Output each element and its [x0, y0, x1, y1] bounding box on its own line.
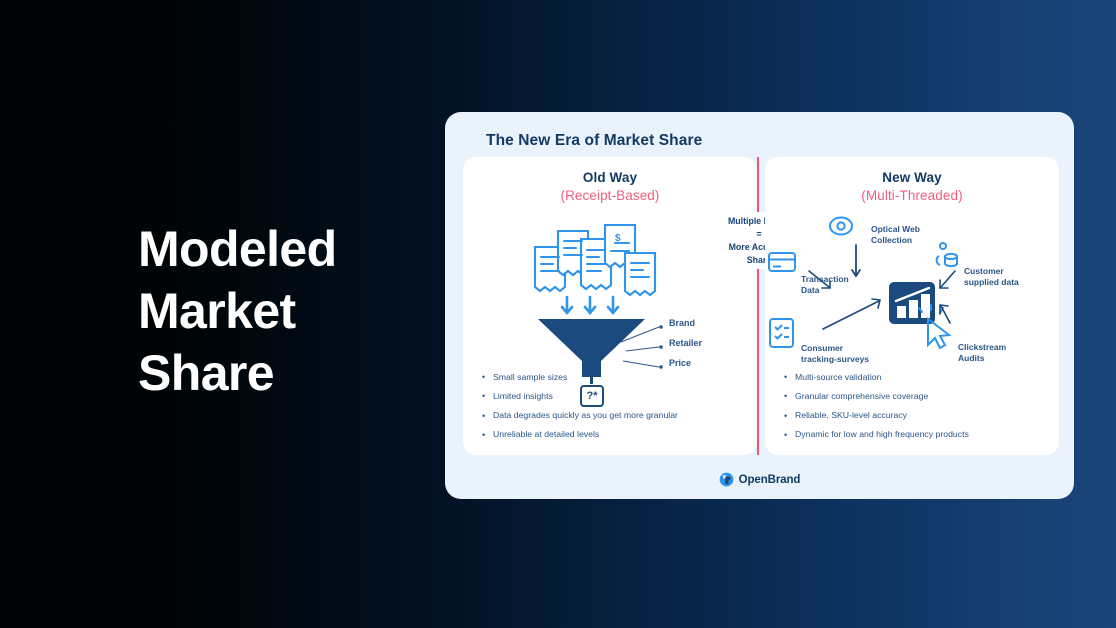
list-item: Data degrades quickly as you get more gr…	[481, 410, 749, 422]
source-label-line-1: Clickstream	[958, 342, 1006, 352]
survey-list-icon	[770, 319, 793, 347]
source-label-line-2: Collection	[871, 235, 912, 245]
panel-new-heading: New Way (Multi-Threaded)	[765, 157, 1059, 203]
brand-footer: OpenBrand	[445, 472, 1074, 487]
source-label-line-1: Optical Web	[871, 224, 920, 234]
new-way-bullet-list: Multi-source validation Granular compreh…	[783, 372, 1051, 441]
eye-icon	[830, 218, 852, 235]
brand-name: OpenBrand	[739, 474, 801, 486]
list-item: Reliable, SKU-level accuracy	[783, 410, 1051, 422]
list-item: Limited insights	[481, 391, 749, 403]
headline-line-3: Share	[138, 342, 438, 404]
market-share-card: The New Era of Market Share Old Way (Rec…	[445, 112, 1074, 499]
headline-line-1: Modeled	[138, 218, 438, 280]
list-item: Multi-source validation	[783, 372, 1051, 384]
svg-text:$: $	[615, 233, 621, 244]
source-label-line-1: Customer	[964, 266, 1004, 276]
page-title: Modeled Market Share	[138, 218, 438, 404]
panel-new-subtitle: (Multi-Threaded)	[765, 188, 1059, 203]
credit-card-icon	[769, 253, 795, 271]
openbrand-logo-icon	[719, 472, 734, 487]
panel-new-title: New Way	[765, 170, 1059, 185]
list-item: Small sample sizes	[481, 372, 749, 384]
panel-old-way: Old Way (Receipt-Based)	[463, 157, 757, 455]
source-label-clickstream-audits: Clickstream Audits	[958, 342, 1006, 364]
source-label-line-1: Consumer	[801, 343, 843, 353]
source-label-optical-web: Optical Web Collection	[871, 224, 920, 246]
source-label-line-2: tracking-surveys	[801, 354, 869, 364]
source-label-customer-supplied: Customer supplied data	[964, 266, 1019, 288]
panel-old-title: Old Way	[463, 170, 757, 185]
source-label-line-2: Data	[801, 285, 819, 295]
panel-divider	[757, 157, 759, 455]
funnel-label-retailer: Retailer	[669, 338, 702, 348]
funnel-label-price: Price	[669, 358, 691, 368]
source-label-line-2: supplied data	[964, 277, 1019, 287]
source-label-transaction-data: Transaction Data	[801, 274, 849, 296]
source-label-line-2: Audits	[958, 353, 984, 363]
list-item: Granular comprehensive coverage	[783, 391, 1051, 403]
customer-data-icon	[937, 243, 957, 266]
old-way-bullet-list: Small sample sizes Limited insights Data…	[481, 372, 749, 441]
list-item: Unreliable at detailed levels	[481, 429, 749, 441]
card-title: The New Era of Market Share	[486, 132, 702, 150]
panel-new-way: New Way (Multi-Threaded)	[765, 157, 1059, 455]
headline-line-2: Market	[138, 280, 438, 342]
panel-old-heading: Old Way (Receipt-Based)	[463, 157, 757, 203]
panel-old-subtitle: (Receipt-Based)	[463, 188, 757, 203]
slide-canvas: Modeled Market Share The New Era of Mark…	[0, 0, 1116, 628]
source-label-line-1: Transaction	[801, 274, 849, 284]
source-label-consumer-surveys: Consumer tracking-surveys	[801, 343, 869, 365]
list-item: Dynamic for low and high frequency produ…	[783, 429, 1051, 441]
funnel-label-brand: Brand	[669, 318, 695, 328]
